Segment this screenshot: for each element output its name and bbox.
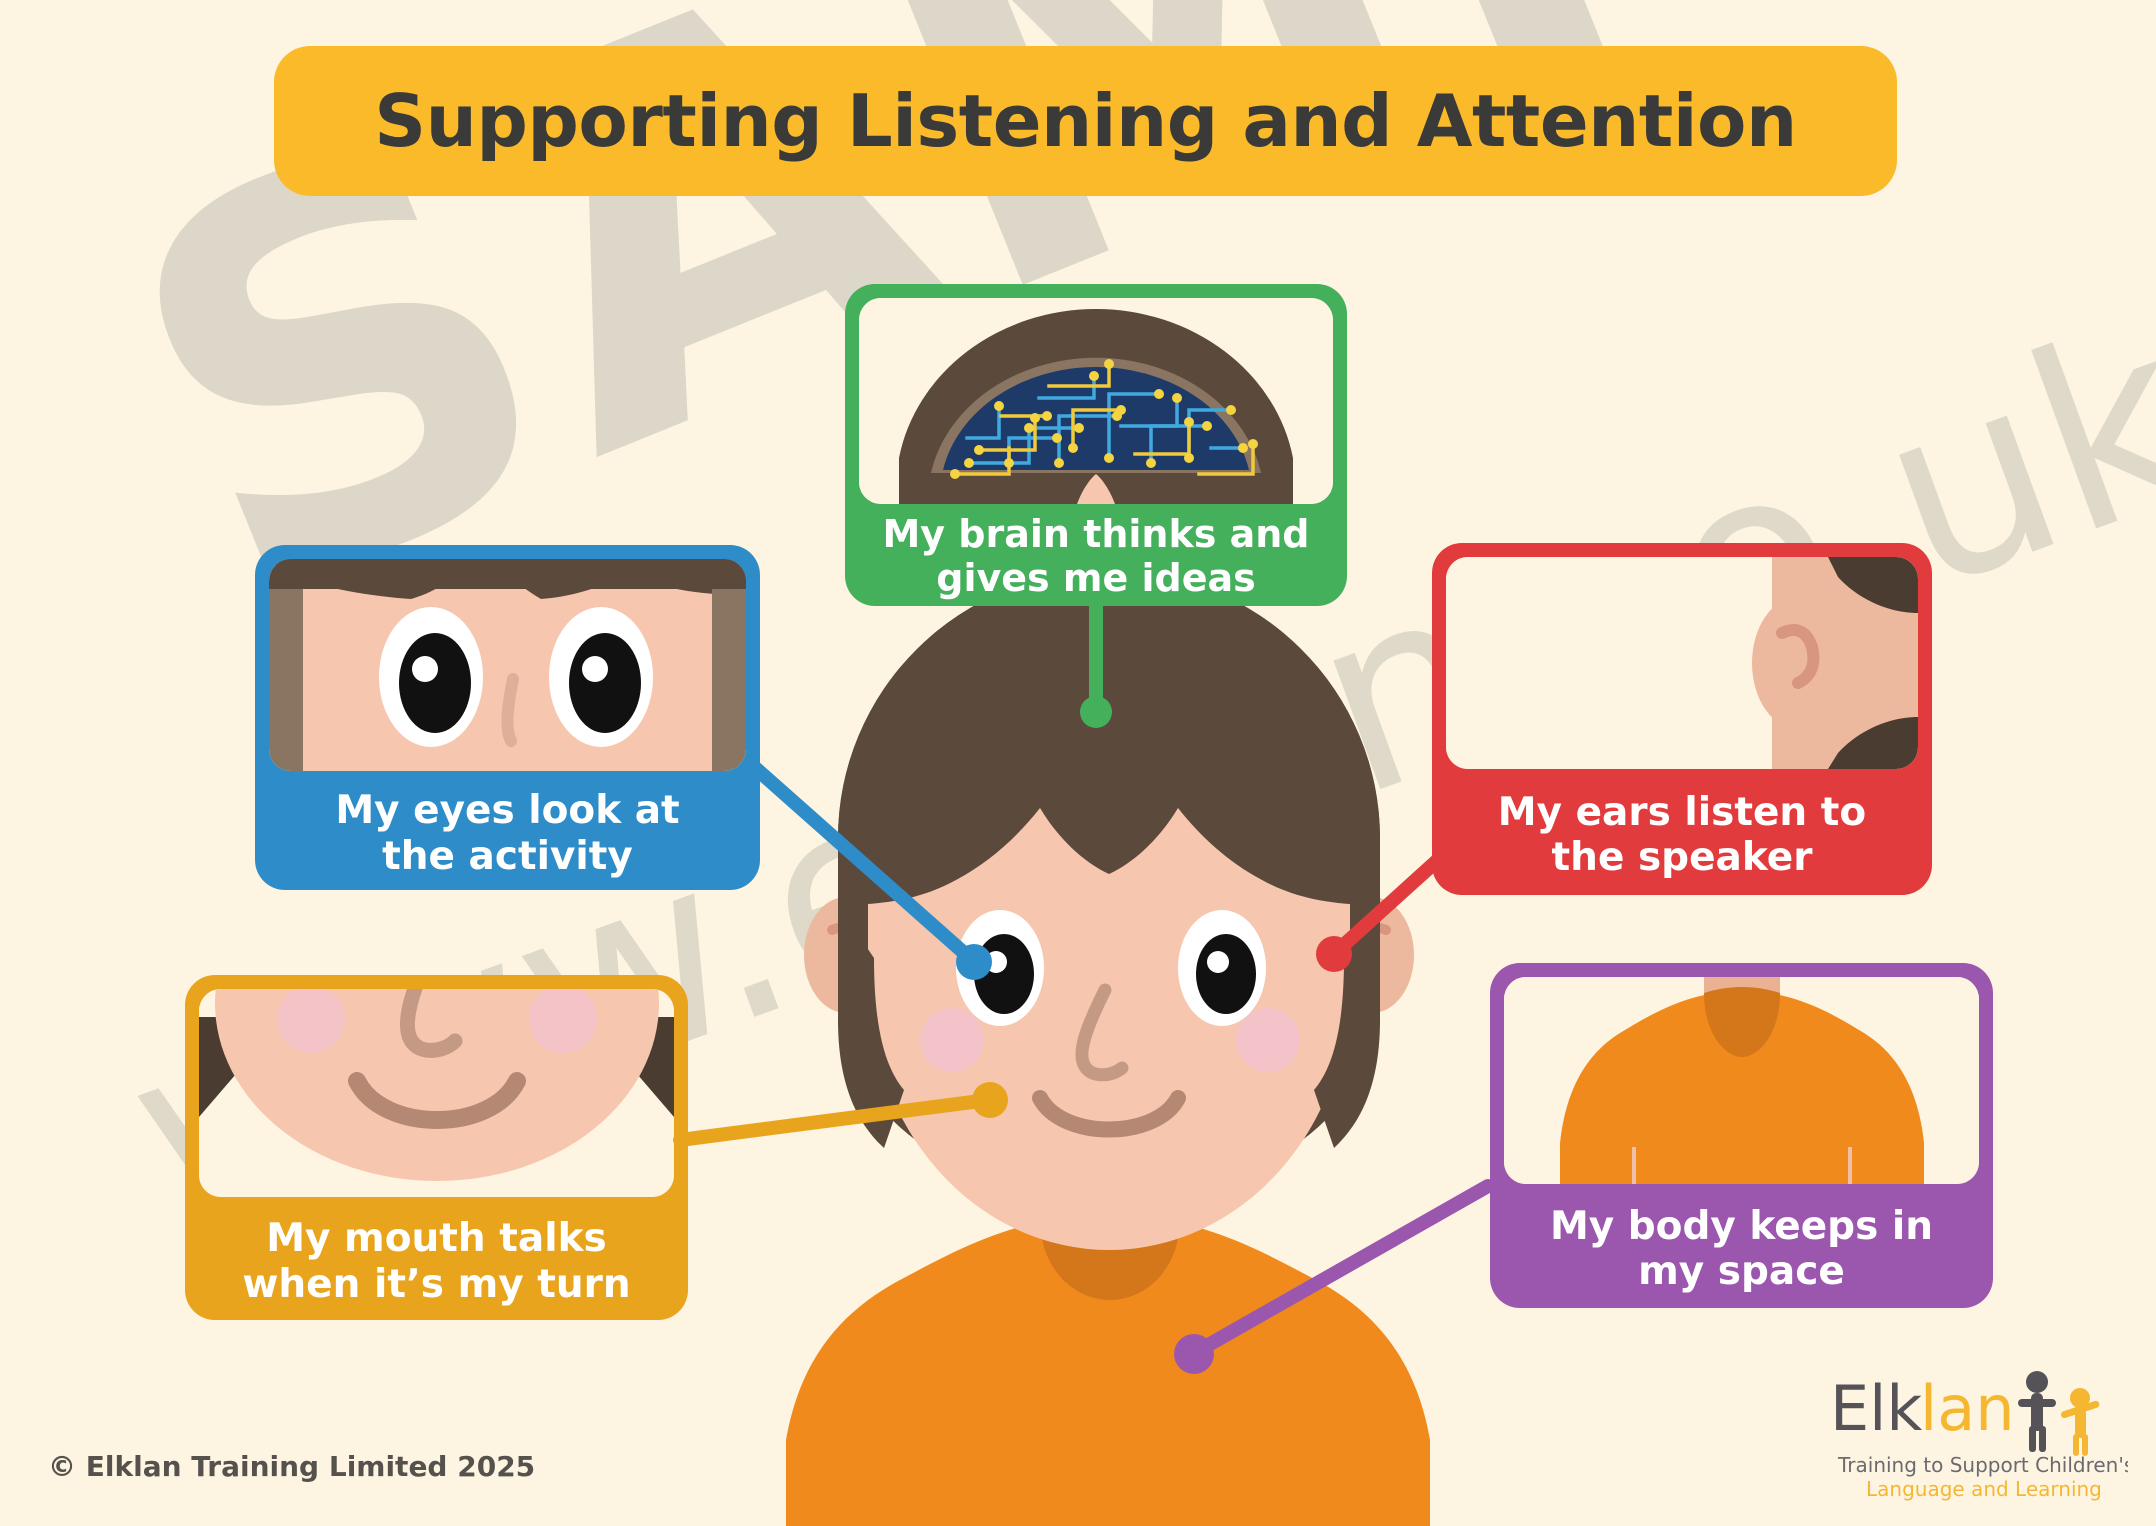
body-icon xyxy=(1504,977,1979,1184)
card-eyes-line1: My eyes look at xyxy=(335,788,679,833)
card-body-label: My body keeps in my space xyxy=(1490,1190,1993,1308)
body-illustration xyxy=(1504,977,1979,1184)
card-eyes-label: My eyes look at the activity xyxy=(255,777,760,890)
mouth-illustration xyxy=(199,989,674,1197)
card-ears[interactable]: My ears listen to the speaker xyxy=(1432,543,1932,895)
ear-illustration xyxy=(1446,557,1918,769)
card-mouth-line1: My mouth talks xyxy=(266,1216,606,1261)
card-ears-label: My ears listen to the speaker xyxy=(1432,775,1932,895)
card-mouth-line2: when it’s my turn xyxy=(242,1262,630,1307)
card-mouth-label: My mouth talks when it’s my turn xyxy=(185,1203,688,1320)
brain-illustration xyxy=(859,298,1333,504)
logo-word-part2: lan xyxy=(1920,1372,2015,1445)
logo-tagline-1: Training to Support Children's xyxy=(1837,1453,2128,1477)
card-ears-line1: My ears listen to xyxy=(1498,790,1866,835)
elklan-logo: Elk lan Training to Support Children's L… xyxy=(1828,1368,2128,1508)
copyright-text: © Elklan Training Limited 2025 xyxy=(48,1450,535,1483)
card-body[interactable]: My body keeps in my space xyxy=(1490,963,1993,1308)
card-body-line2: my space xyxy=(1638,1249,1845,1294)
card-brain[interactable]: My brain thinks and gives me ideas xyxy=(845,284,1347,606)
card-brain-line1: My brain thinks and xyxy=(882,512,1309,556)
card-mouth[interactable]: My mouth talks when it’s my turn xyxy=(185,975,688,1320)
logo-tagline-2: Language and Learning xyxy=(1866,1477,2102,1501)
mouth-icon xyxy=(199,989,674,1197)
card-brain-label: My brain thinks and gives me ideas xyxy=(845,506,1347,606)
page-title: Supporting Listening and Attention xyxy=(374,79,1797,163)
ear-icon xyxy=(1446,557,1918,769)
card-body-line1: My body keeps in xyxy=(1550,1204,1933,1249)
brain-icon xyxy=(859,298,1333,504)
poster-canvas: SAMPLE www.elklan.co.uk Sup xyxy=(0,0,2156,1526)
card-eyes-line2: the activity xyxy=(382,834,633,879)
poster-title-bar: Supporting Listening and Attention xyxy=(274,46,1897,196)
card-eyes[interactable]: My eyes look at the activity xyxy=(255,545,760,890)
logo-child-figure xyxy=(2060,1388,2100,1456)
eyes-icon xyxy=(269,559,746,771)
logo-word-part1: Elk xyxy=(1830,1372,1922,1445)
logo-adult-figure xyxy=(2018,1371,2056,1452)
card-brain-line2: gives me ideas xyxy=(936,556,1255,600)
eyes-illustration xyxy=(269,559,746,771)
card-ears-line2: the speaker xyxy=(1552,835,1813,880)
